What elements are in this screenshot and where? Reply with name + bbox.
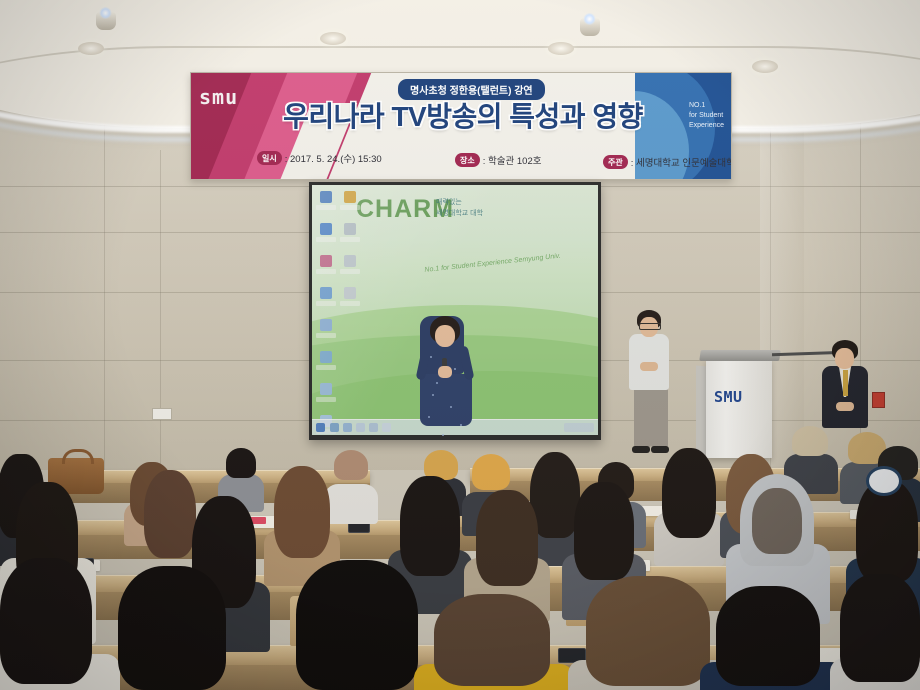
audience-member (330, 450, 370, 508)
downlight-icon (548, 42, 574, 55)
audience-member-front (434, 594, 552, 690)
tagline-line-1: NO.1 (689, 101, 724, 111)
audience-member (662, 448, 716, 544)
banner-meta-place: 장소 : 학술관 102호 (455, 153, 541, 167)
podium (706, 358, 772, 458)
audience-member (574, 482, 634, 586)
audience-member (274, 466, 330, 562)
banner-meta-row: 일시 : 2017. 5. 24.(수) 15:30 장소 : 학술관 102호… (251, 149, 721, 171)
lecture-hall-photo: smu NO.1 for Student Experience 명사초청 정한용… (0, 0, 920, 690)
banner-title: 우리나라 TV방송의 특성과 영향 (275, 95, 651, 135)
spotlight-icon (96, 12, 116, 30)
audience-member (476, 490, 538, 590)
audience-member (222, 448, 260, 498)
audience-member (790, 426, 830, 478)
event-banner: smu NO.1 for Student Experience 명사초청 정한용… (190, 72, 732, 180)
banner-smu-logo: smu (199, 85, 238, 109)
audience-member-hoodie (740, 474, 814, 590)
tagline-line-3: Experience (689, 121, 724, 131)
meta-tag: 장소 (455, 153, 480, 167)
jacket-patch (866, 466, 902, 496)
meta-tag: 주관 (603, 155, 628, 169)
audience-member-front (586, 576, 712, 690)
tagline-line-2: for Student (689, 111, 724, 121)
glasses-icon (639, 323, 661, 330)
banner-meta-host: 주관 : 세명대학교 인문예술대학 (603, 155, 732, 169)
spotlight-icon (580, 18, 600, 36)
banner-tagline: NO.1 for Student Experience (689, 101, 724, 131)
downlight-icon (320, 32, 346, 45)
presenter (420, 316, 472, 458)
exit-sign-icon (872, 392, 885, 408)
audience-member-front (0, 558, 96, 690)
meta-tag: 일시 (257, 151, 282, 165)
audience-member-front (840, 574, 920, 690)
wall-plate (152, 408, 172, 420)
downlight-icon (752, 60, 778, 73)
podium-smu-logo: SMU (714, 388, 743, 406)
audience-member (144, 470, 196, 562)
audience-member-front (118, 566, 228, 690)
meta-value: : 세명대학교 인문예술대학 (631, 155, 732, 169)
meta-value: : 학술관 102호 (483, 153, 542, 167)
audience-member-front (716, 586, 822, 690)
staff-member-jacket (628, 310, 672, 455)
banner-meta-datetime: 일시 : 2017. 5. 24.(수) 15:30 (257, 151, 382, 165)
downlight-icon (78, 42, 104, 55)
audience-member-front (296, 560, 420, 690)
podium-top-surface (699, 350, 781, 361)
meta-value: : 2017. 5. 24.(수) 15:30 (285, 151, 382, 165)
